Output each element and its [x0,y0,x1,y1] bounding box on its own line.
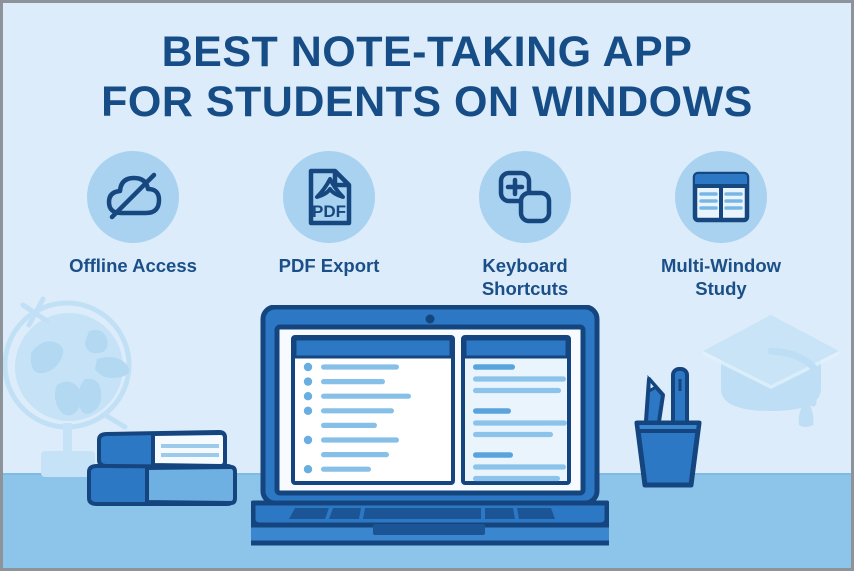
feature-multi-window-study: Multi-Window Study [652,151,790,300]
infographic-poster: BEST NOTE-TAKING APP FOR STUDENTS ON WIN… [0,0,854,571]
feature-icon-circle: PDF [283,151,375,243]
laptop-window-right [463,337,569,483]
stacked-books-illustration [81,428,241,508]
note-line [321,437,399,442]
note-line [321,423,377,428]
keyboard-keys-icon [496,168,554,226]
feature-keyboard-shortcuts: Keyboard Shortcuts [456,151,594,300]
note-bullet [304,363,312,371]
laptop-trackpad [373,524,485,535]
cloud-off-icon [103,170,163,224]
note-bullet [304,436,312,444]
pdf-document-icon: PDF [303,167,355,227]
paragraph-heading-line [473,364,515,370]
feature-label: Multi-Window Study [652,254,790,300]
feature-label: Offline Access [64,254,202,277]
note-bullet [304,407,312,415]
feature-label: PDF Export [260,254,398,277]
paragraph-line [473,432,553,437]
note-line [321,379,385,384]
pdf-label: PDF [312,202,346,221]
note-line [321,394,411,399]
split-window-icon [691,170,751,224]
note-line [321,364,399,369]
paragraph-line [473,376,566,381]
note-line [321,408,394,413]
laptop-window-left [293,337,453,483]
note-bullet [304,392,312,400]
paragraph-heading-line [473,452,513,458]
title-line-1: BEST NOTE-TAKING APP [162,28,693,76]
laptop-illustration [251,305,609,550]
page-title: BEST NOTE-TAKING APP FOR STUDENTS ON WIN… [3,27,851,127]
paragraph-line [473,420,567,425]
graduation-cap-illustration [697,303,845,433]
paragraph-line [473,464,566,469]
note-line [321,452,389,457]
feature-icon-circle [87,151,179,243]
feature-icon-circle [479,151,571,243]
note-line [321,467,371,472]
feature-icon-circle [675,151,767,243]
paragraph-line [473,476,560,481]
feature-label: Keyboard Shortcuts [456,254,594,300]
paragraph-heading-line [473,408,511,414]
note-bullet [304,377,312,385]
feature-pdf-export: PDF PDF Export [260,151,398,277]
pencil-cup-illustration [627,361,709,491]
note-bullet [304,465,312,473]
paragraph-line [473,388,561,393]
title-line-2: FOR STUDENTS ON WINDOWS [3,77,851,127]
feature-offline-access: Offline Access [64,151,202,277]
feature-list: Offline Access PDF PDF Export [3,151,851,300]
